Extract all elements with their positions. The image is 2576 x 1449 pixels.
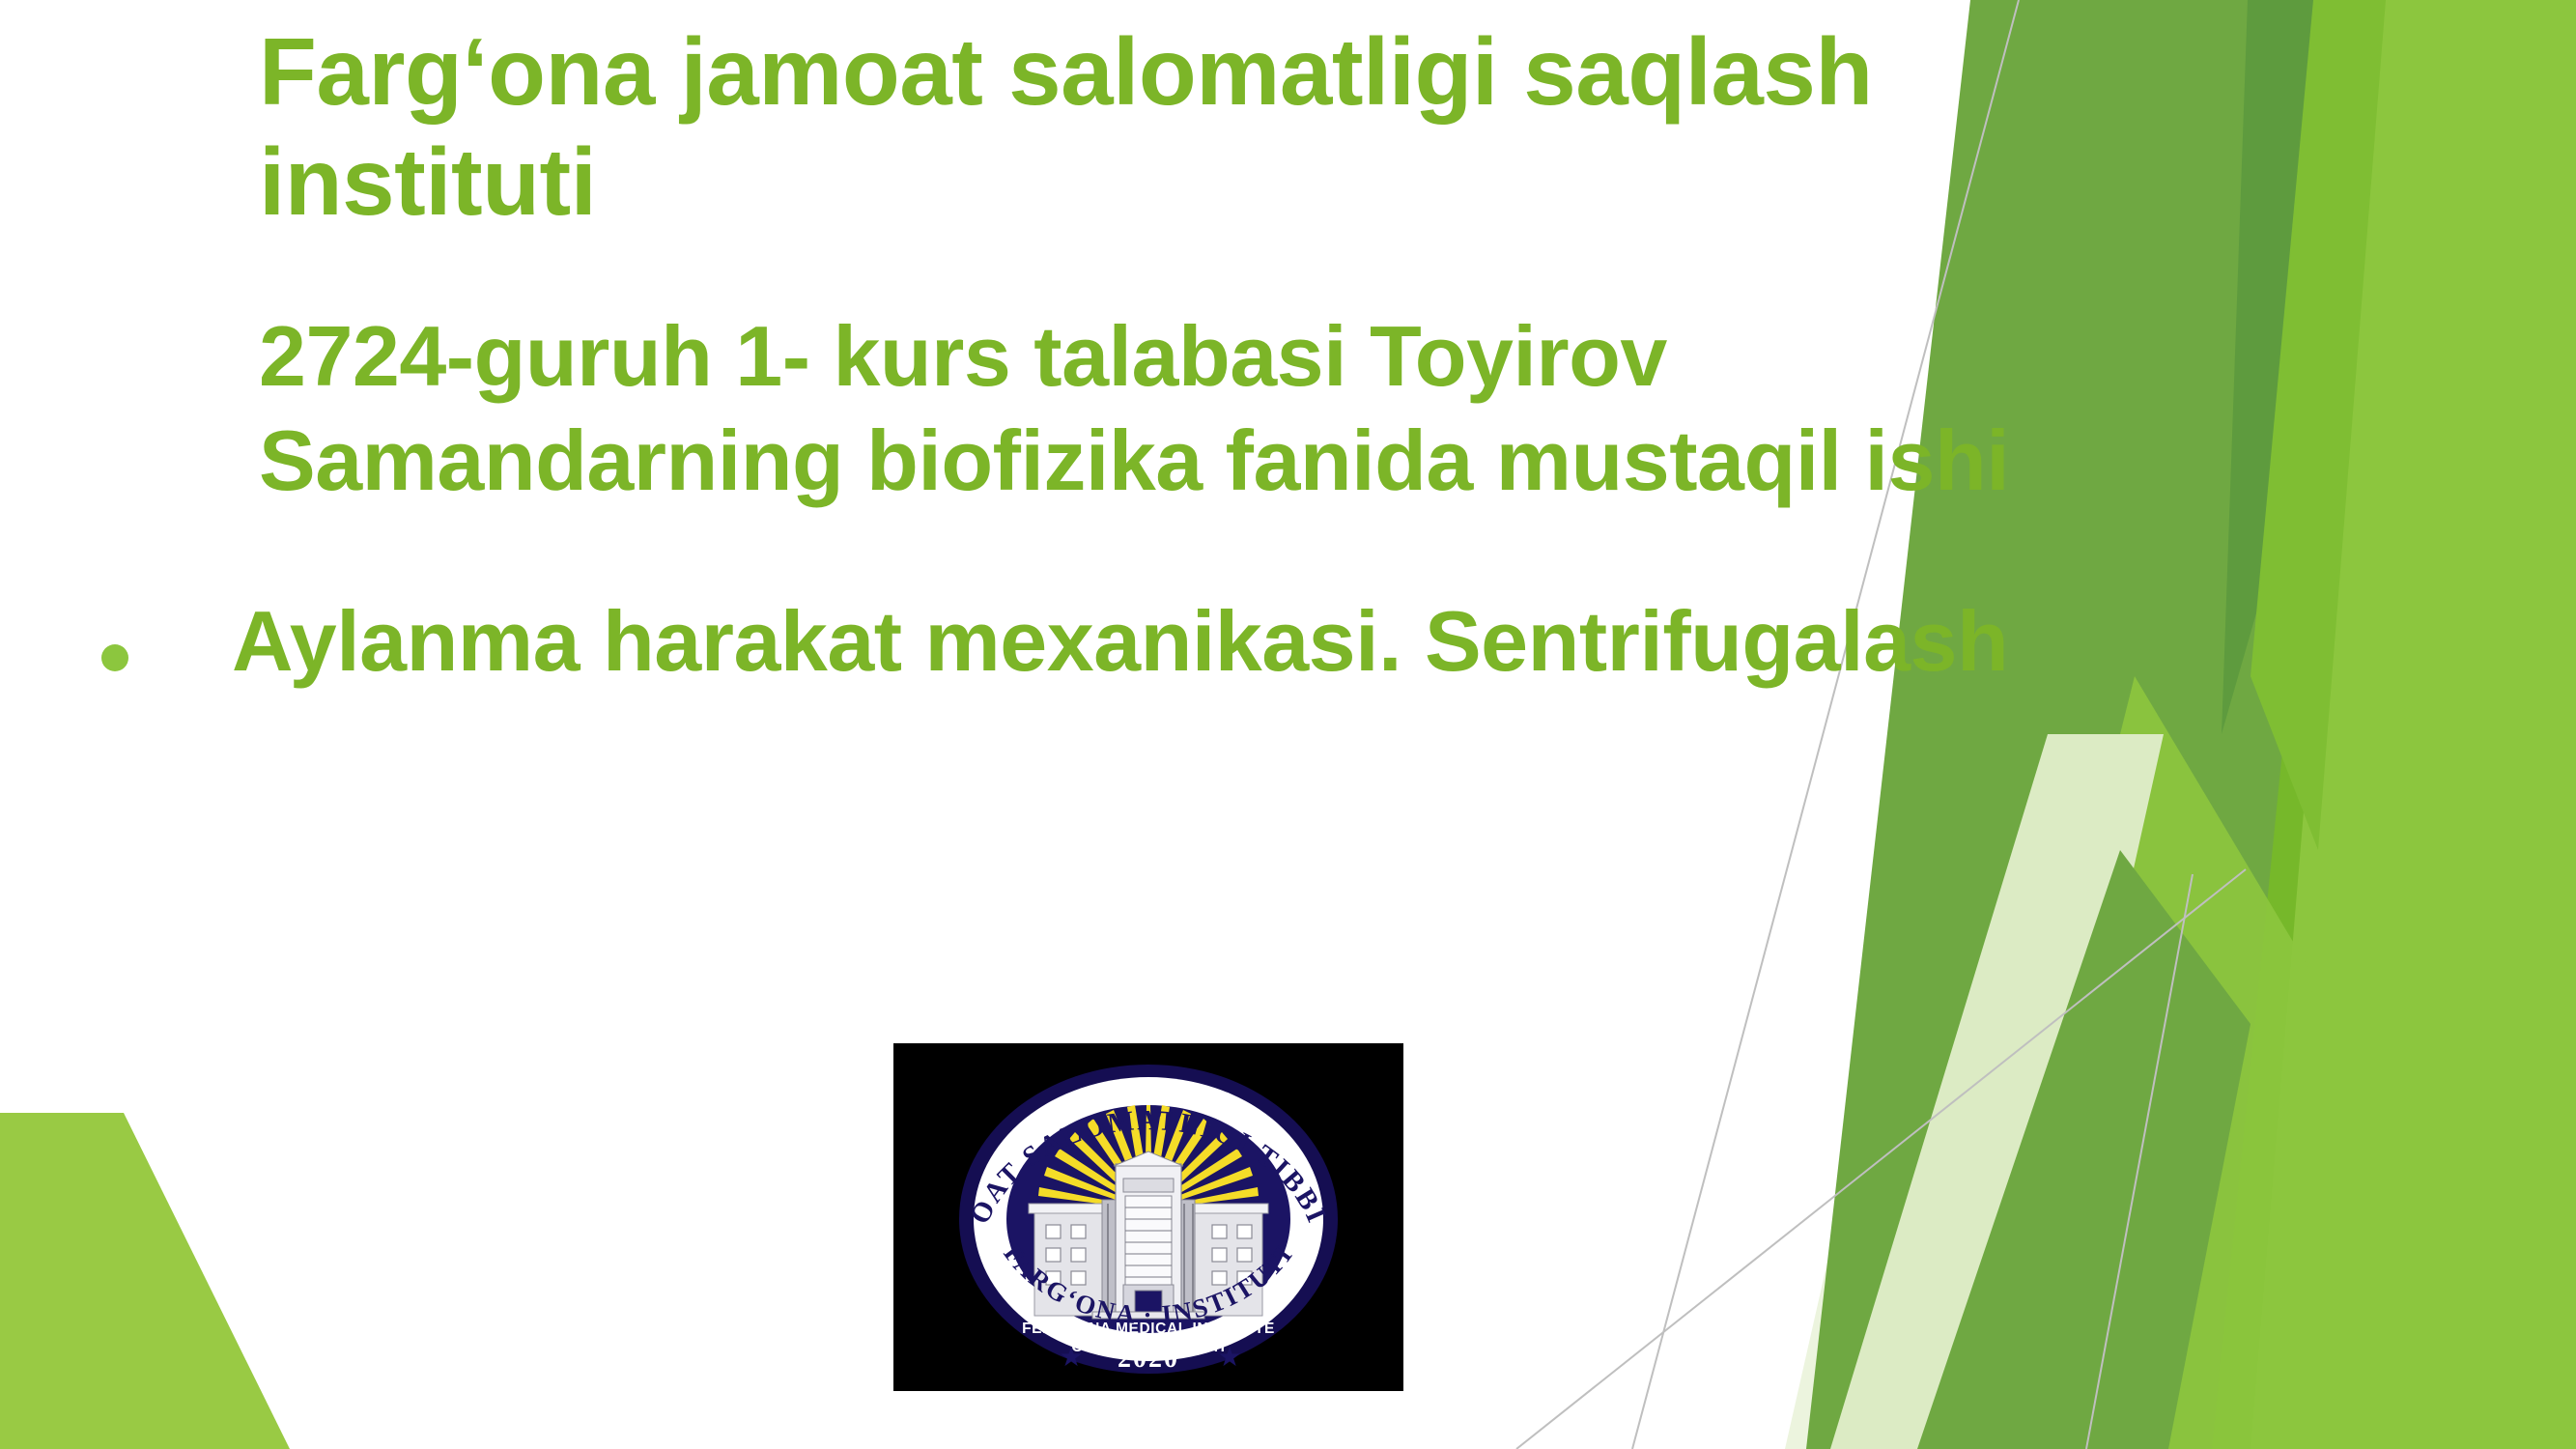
paragraph-topic-line-wrapper: Aylanma harakat mexanikasi. Sentrifugala… (0, 589, 2125, 693)
bullet-dot-icon (101, 644, 128, 671)
logo-year: 2020 (1118, 1344, 1179, 1374)
paragraph-institute-title: Farg‘ona jamoat salomatligi saqlash inst… (0, 17, 2125, 237)
paragraph-topic-line: Aylanma harakat mexanikasi. Sentrifugala… (232, 593, 2008, 689)
logo-star-left-icon: ★ (1059, 1341, 1083, 1373)
logo-star-right-icon: ★ (1217, 1341, 1241, 1373)
paragraph-student-line: 2724-guruh 1- kurs talabasi Toyirov Sama… (0, 304, 2125, 512)
institute-logo-image: FERGHANA MEDICAL INSTITUTE OF PUBLIC HEA… (893, 1043, 1403, 1391)
presentation-slide: Farg‘ona jamoat salomatligi saqlash inst… (0, 0, 2576, 1449)
slide-content: Farg‘ona jamoat salomatligi saqlash inst… (0, 0, 2576, 1449)
text-body: Farg‘ona jamoat salomatligi saqlash inst… (0, 0, 2125, 530)
